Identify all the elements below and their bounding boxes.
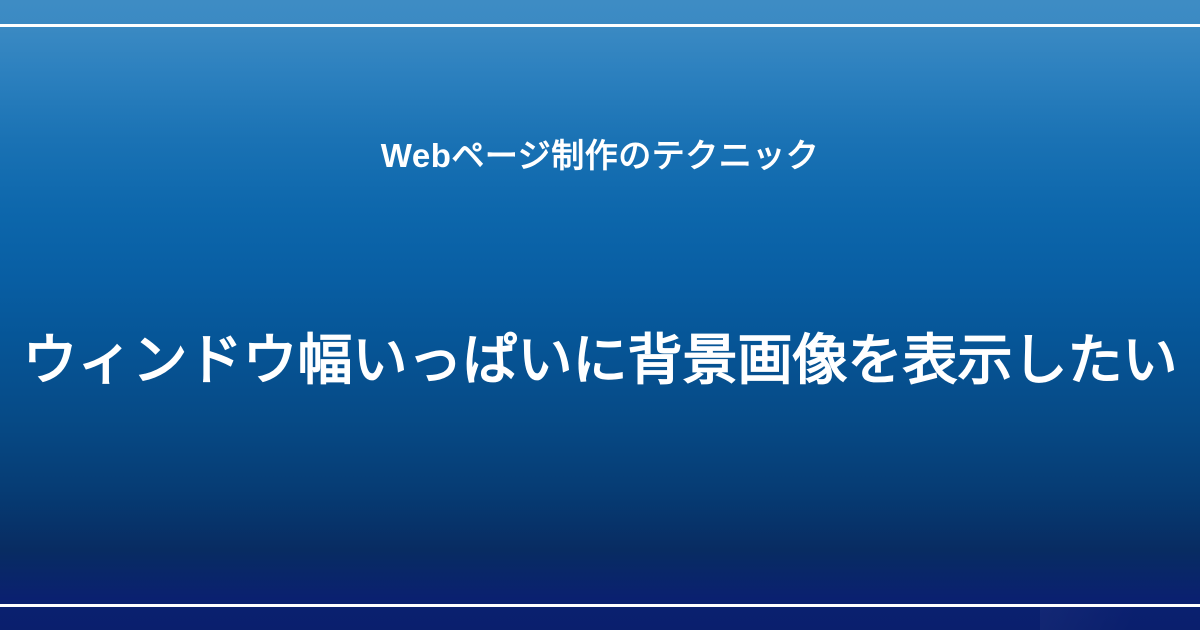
bottom-divider-rule: [0, 604, 1200, 607]
banner-title: ウィンドウ幅いっぱいに背景画像を表示したい: [0, 325, 1200, 395]
banner-content: Webページ制作のテクニック ウィンドウ幅いっぱいに背景画像を表示したい: [0, 0, 1200, 630]
banner-subtitle: Webページ制作のテクニック: [0, 134, 1200, 178]
ogp-banner: Webページ制作のテクニック ウィンドウ幅いっぱいに背景画像を表示したい: [0, 0, 1200, 630]
